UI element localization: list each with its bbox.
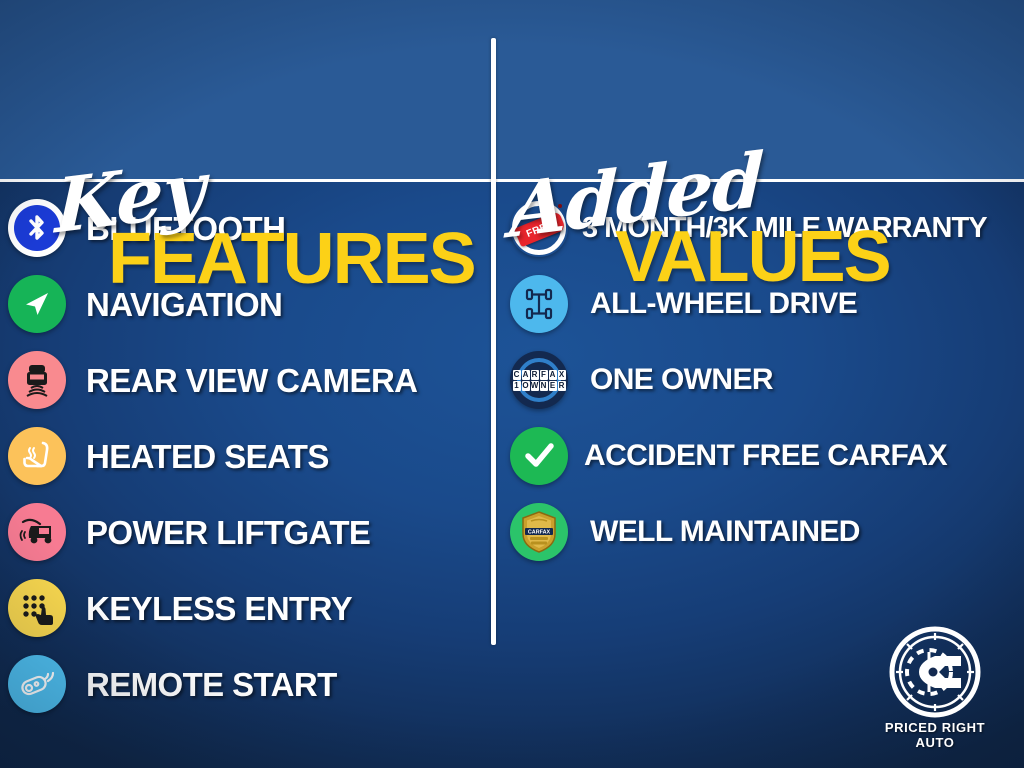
key-fob-icon — [8, 655, 66, 713]
header-column-key-features: Key FEATURES — [0, 0, 487, 179]
list-item-label: WELL MAINTAINED — [590, 517, 860, 547]
header-banner: Key FEATURES Added VALUES — [0, 0, 1024, 182]
dealer-logo: PRICED RIGHT AUTO — [872, 626, 998, 750]
key-script-title: Key — [54, 151, 205, 244]
dealer-logo-text: PRICED RIGHT AUTO — [872, 720, 998, 750]
list-item[interactable]: ACCIDENT FREE CARFAX — [500, 418, 1024, 494]
header-column-added-values: Added VALUES — [497, 0, 1024, 179]
list-item[interactable]: HEATED SEATS — [0, 418, 487, 494]
list-item-label: ONE OWNER — [590, 365, 773, 395]
power-liftgate-icon — [8, 503, 66, 561]
list-item-label: HEATED SEATS — [86, 440, 329, 473]
list-item[interactable]: REAR VIEW CAMERA — [0, 342, 487, 418]
list-item[interactable]: CARFAX 1OWNER ONE OWNER — [500, 342, 1024, 418]
list-item-label: REAR VIEW CAMERA — [86, 364, 417, 397]
list-item-label: REMOTE START — [86, 668, 337, 701]
carfax-badge-line2: 1OWNER — [513, 381, 566, 391]
drivetrain-axle-icon — [510, 275, 568, 333]
carfax-shield-badge-icon: CARFAX — [510, 503, 568, 561]
list-item-label: POWER LIFTGATE — [86, 516, 370, 549]
list-item[interactable]: POWER LIFTGATE — [0, 494, 487, 570]
keypad-hand-icon — [8, 579, 66, 637]
list-item-label: ACCIDENT FREE CARFAX — [584, 441, 947, 471]
carfax-badge-line1: CARFAX — [513, 370, 566, 380]
feature-graphic-card: Key FEATURES Added VALUES BLUETOOTH — [0, 0, 1024, 768]
checkmark-icon — [510, 427, 568, 485]
list-item[interactable]: CARFAX WELL MAINTAINED — [500, 494, 1024, 570]
list-item[interactable]: REMOTE START — [0, 646, 487, 722]
carfax-one-owner-icon: CARFAX 1OWNER — [510, 351, 568, 409]
navigation-arrow-icon — [8, 275, 66, 333]
heated-seat-icon — [8, 427, 66, 485]
rear-camera-car-icon — [8, 351, 66, 409]
list-item[interactable]: KEYLESS ENTRY — [0, 570, 487, 646]
column-divider — [491, 38, 496, 645]
svg-text:CARFAX: CARFAX — [528, 530, 551, 536]
gear-wrench-emblem-icon — [889, 626, 981, 718]
list-item-label: KEYLESS ENTRY — [86, 592, 352, 625]
